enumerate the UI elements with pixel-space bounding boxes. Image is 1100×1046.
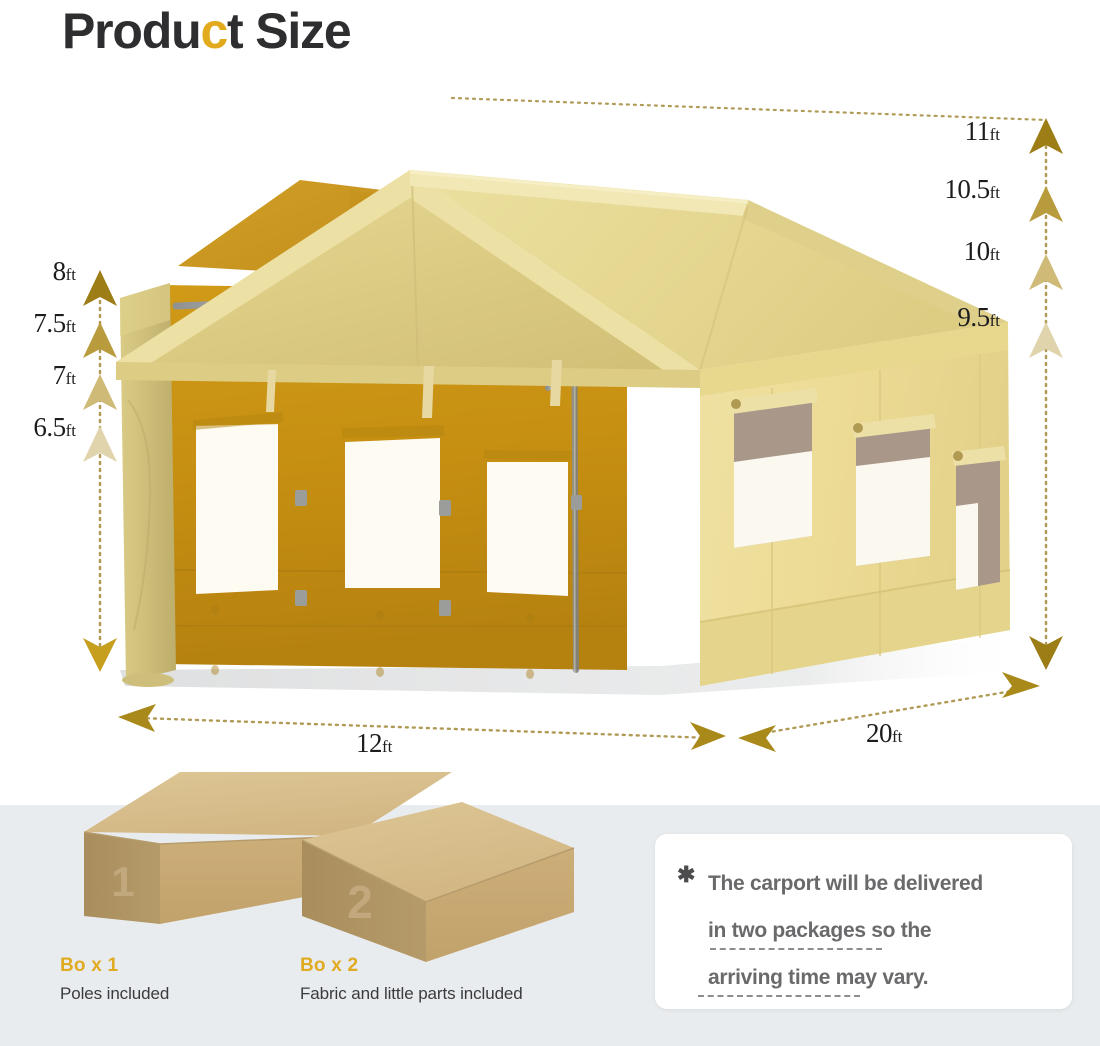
package-2-caption: Bo x 2 Fabric and little parts included	[300, 955, 523, 1004]
side-wall	[700, 322, 1010, 756]
title-accent-letter: c	[200, 3, 227, 59]
dim-label-length-20ft: 20ft	[866, 720, 902, 747]
package-1-title: Bo x 1	[60, 955, 169, 977]
title-part-2: t Size	[227, 3, 350, 59]
boxes-drawing: 1 2	[40, 766, 660, 966]
dim-label-right-10-5ft: 10.5ft	[896, 176, 1000, 203]
note-line-3: arriving time may vary.	[708, 954, 1056, 1001]
package-1-subtitle: Poles included	[60, 984, 169, 1004]
delivery-note-card: ✱ The carport will be delivered in two p…	[655, 834, 1072, 1009]
asterisk-icon: ✱	[677, 864, 695, 886]
dim-label-width-12ft: 12ft	[356, 730, 392, 757]
title-part-1: Produ	[62, 3, 200, 59]
page-title: Product Size	[62, 2, 350, 60]
width-arrow-left	[118, 704, 156, 732]
delivery-note-content: ✱ The carport will be delivered in two p…	[677, 860, 1056, 1001]
dim-label-left-7ft: 7ft	[0, 362, 76, 389]
carport-illustration: 11ft 10.5ft 10ft 9.5ft 8ft 7.5ft 7ft 6.5…	[0, 70, 1100, 805]
left-arrow-7ft	[83, 374, 117, 410]
dim-label-left-6-5ft: 6.5ft	[0, 414, 76, 441]
note-line-2: in two packages so the	[708, 907, 1056, 954]
right-arrow-10ft	[1029, 254, 1063, 290]
dim-label-right-10ft: 10ft	[906, 238, 1000, 265]
package-1-caption: Bo x 1 Poles included	[60, 955, 169, 1004]
note-line-1: The carport will be delivered	[708, 860, 1056, 907]
package-boxes-illustration: 1 2	[40, 766, 660, 966]
dim-label-left-7-5ft: 7.5ft	[0, 310, 76, 337]
package-2-title: Bo x 2	[300, 955, 523, 977]
width-dimension-line	[140, 718, 712, 738]
dim-label-right-11ft: 11ft	[916, 118, 1000, 145]
right-arrow-9-5ft	[1029, 322, 1063, 358]
box-2-number: 2	[347, 876, 373, 928]
top-guide-line	[452, 98, 1046, 120]
product-size-infographic: Product Size	[0, 0, 1100, 1046]
package-2-subtitle: Fabric and little parts included	[300, 984, 523, 1004]
box-1-number: 1	[111, 858, 134, 905]
dim-label-left-8ft: 8ft	[0, 258, 76, 285]
dim-label-right-9-5ft: 9.5ft	[896, 304, 1000, 331]
length-arrow-left	[738, 725, 776, 752]
